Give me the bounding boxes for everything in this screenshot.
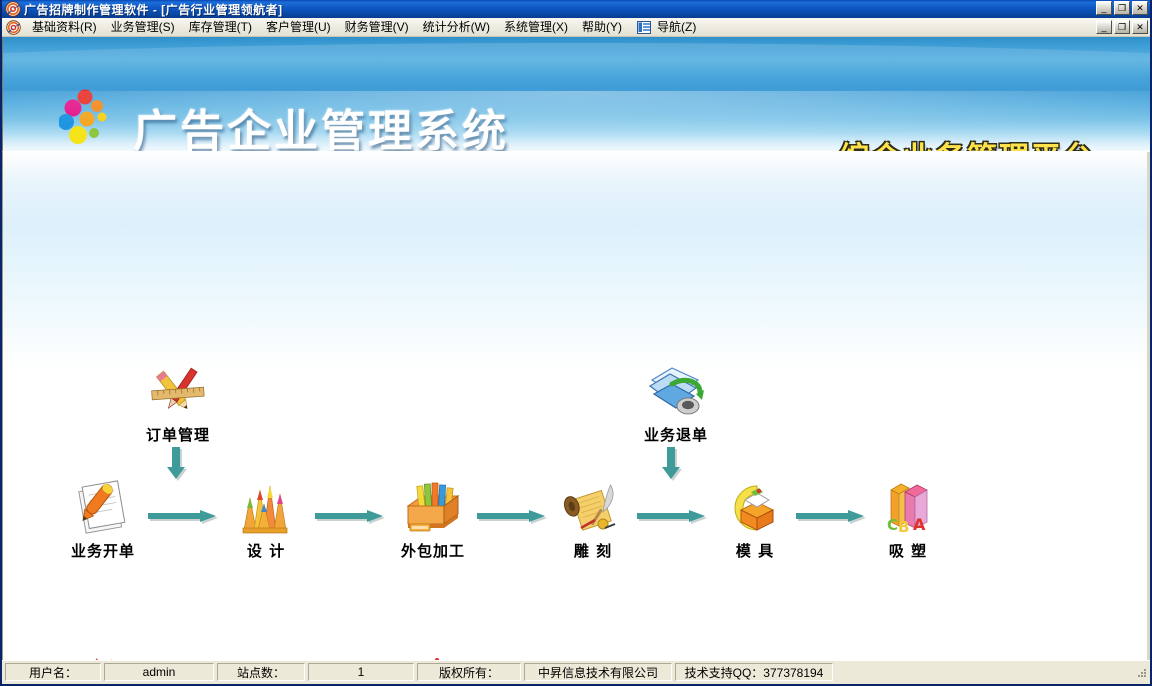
open-book-mold-icon <box>700 474 810 536</box>
application-window: 广告招牌制作管理软件 - [广告行业管理领航者] _ ❐ ✕ 基础资料(R) 业… <box>0 0 1152 686</box>
app-banner: 广告企业管理系统 综合业务管理平台 <box>2 37 1150 151</box>
menu-item-business[interactable]: 业务管理(S) <box>104 19 182 36</box>
status-copyright-label: 版权所有： <box>417 663 521 681</box>
workflow-node-label: 外包加工 <box>378 540 488 561</box>
workflow-node-label: 订单管理 <box>123 424 233 445</box>
scroll-quill-icon <box>538 474 648 536</box>
status-support-qq: 技术支持QQ：377378194 <box>675 663 833 681</box>
resize-grip-icon[interactable] <box>1134 665 1148 679</box>
workflow-arrow-down <box>662 447 684 489</box>
workflow-node-outsourcing[interactable]: 外包加工 <box>378 474 488 561</box>
workflow-node-label: 吸 塑 <box>853 540 963 561</box>
pencil-ruler-icon <box>123 358 233 420</box>
workflow-node-label: 业务开单 <box>48 540 158 561</box>
workflow-node-order-management[interactable]: 订单管理 <box>123 358 233 445</box>
status-copyright-value: 中昇信息技术有限公司 <box>524 663 672 681</box>
workflow-node-label: 业务退单 <box>621 424 731 445</box>
list-nav-icon <box>637 21 651 34</box>
workflow-arrow-right <box>477 510 549 524</box>
workflow-node-order-return[interactable]: 业务退单 <box>621 358 731 445</box>
status-user-value: admin <box>104 663 214 681</box>
vertical-scrollbar[interactable] <box>1147 152 1150 670</box>
workflow-node-label: 设 计 <box>211 540 321 561</box>
menu-item-navigation[interactable]: 导航(Z) <box>629 18 704 37</box>
workflow-node-design[interactable]: 设 计 <box>211 474 321 561</box>
menu-radar-icon[interactable] <box>6 20 21 35</box>
workflow-node-mould[interactable]: 模 具 <box>700 474 810 561</box>
workflow-arrow-right <box>148 510 220 524</box>
color-pencils-icon <box>211 474 321 536</box>
workflow-arrow-right <box>315 510 387 524</box>
mdi-child-controls: _ ❐ ✕ <box>1096 20 1148 34</box>
status-site-label: 站点数： <box>217 663 305 681</box>
books-box-icon <box>378 474 488 536</box>
svg-text:A: A <box>913 515 926 534</box>
status-user-label: 用户名： <box>5 663 101 681</box>
svg-text:B: B <box>898 518 909 536</box>
workflow-node-engraving[interactable]: 雕 刻 <box>538 474 648 561</box>
mdi-close-button[interactable]: ✕ <box>1132 20 1148 34</box>
workflow-arrow-down <box>167 447 189 489</box>
menu-item-basic-data[interactable]: 基础资料(R) <box>25 19 104 36</box>
status-bar: 用户名： admin 站点数： 1 版权所有： 中昇信息技术有限公司 技术支持Q… <box>2 660 1150 684</box>
workflow-arrow-right <box>637 510 709 524</box>
workflow-node-label: 雕 刻 <box>538 540 648 561</box>
workflow-node-business-order[interactable]: 业务开单 <box>48 474 158 561</box>
menu-item-finance[interactable]: 财务管理(V) <box>338 19 416 36</box>
folder-return-icon <box>621 358 731 420</box>
menu-item-system[interactable]: 系统管理(X) <box>497 19 575 36</box>
books-letters-icon: C B A <box>853 474 963 536</box>
menu-item-customer[interactable]: 客户管理(U) <box>259 19 338 36</box>
menu-bar: 基础资料(R) 业务管理(S) 库存管理(T) 客户管理(U) 财务管理(V) … <box>2 18 1150 37</box>
status-site-value: 1 <box>308 663 414 681</box>
restore-button[interactable]: ❐ <box>1114 1 1130 15</box>
workflow-node-label: 模 具 <box>700 540 810 561</box>
window-controls: _ ❐ ✕ <box>1096 1 1148 15</box>
workflow-canvas: 订单管理 业务退单 <box>2 151 1150 670</box>
mdi-minimize-button[interactable]: _ <box>1096 20 1112 34</box>
banner-subtitle: 综合业务管理平台 <box>839 133 1095 151</box>
menu-item-inventory[interactable]: 库存管理(T) <box>182 19 259 36</box>
title-bar: 广告招牌制作管理软件 - [广告行业管理领航者] _ ❐ ✕ <box>2 0 1150 18</box>
workflow-node-blister[interactable]: C B A 吸 塑 <box>853 474 963 561</box>
color-dots-logo-icon <box>59 89 121 145</box>
svg-text:C: C <box>887 516 898 534</box>
document-pen-icon <box>48 474 158 536</box>
banner-title: 广告企业管理系统 <box>133 95 509 151</box>
minimize-button[interactable]: _ <box>1096 1 1112 15</box>
app-radar-icon <box>5 1 21 17</box>
menu-item-statistics[interactable]: 统计分析(W) <box>416 19 497 36</box>
menu-item-help[interactable]: 帮助(Y) <box>575 19 629 36</box>
close-button[interactable]: ✕ <box>1132 1 1148 15</box>
window-title: 广告招牌制作管理软件 - [广告行业管理领航者] <box>24 1 283 18</box>
workflow-arrow-right <box>796 510 868 524</box>
mdi-restore-button[interactable]: ❐ <box>1114 20 1130 34</box>
menu-nav-label: 导航(Z) <box>655 19 698 36</box>
